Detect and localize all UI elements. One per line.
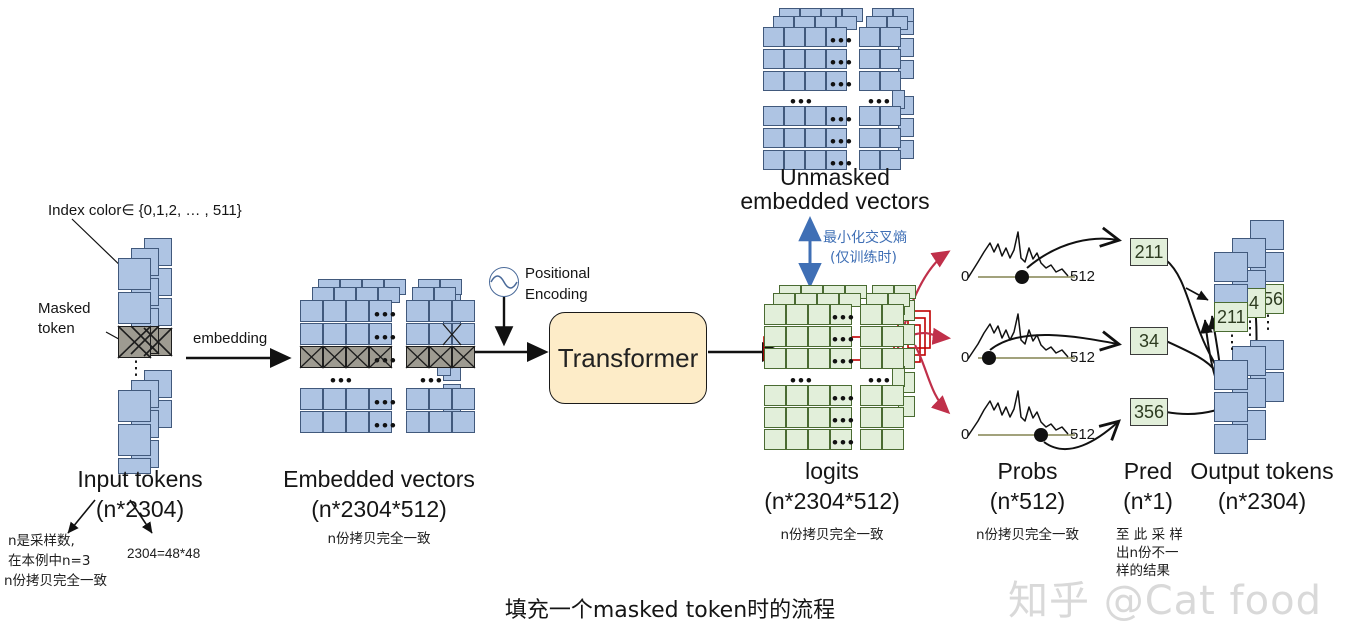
row-dots: ••• (830, 111, 854, 128)
probs-note-1: n份拷贝完全一致 (955, 528, 1100, 544)
grid-cell (786, 429, 808, 450)
logits-note-1: n份拷贝完全一致 (744, 528, 920, 544)
row-dots: ••• (830, 32, 854, 49)
grid-cell (786, 304, 808, 325)
prob-axis-min-1: 0 (961, 268, 969, 286)
grid-cell (784, 128, 805, 148)
grid-cell (764, 348, 786, 369)
prob-axis-max-3: 512 (1070, 426, 1095, 444)
token-cell (1214, 392, 1248, 422)
grid-cell (784, 27, 805, 47)
diagram-canvas: ⋮ Index color∈ {0,1,2, … , 511} Masked t… (0, 0, 1346, 642)
grid-cell (860, 407, 882, 428)
grid-cell (784, 71, 805, 91)
grid-cell (764, 407, 786, 428)
pred-value: 34 (1139, 331, 1159, 352)
grid-cell (808, 348, 830, 369)
logits-title: logits (744, 458, 920, 485)
grid-cell (764, 429, 786, 450)
grid-cell (808, 385, 830, 406)
grid-cell (860, 348, 882, 369)
pred-box-3: 356 (1130, 398, 1168, 426)
cross-entropy-note-line2: (仅训练时) (830, 250, 897, 268)
grid-back-sliver (892, 366, 905, 387)
grid-cell (764, 326, 786, 347)
grid-cell (763, 71, 784, 91)
logits-shape: (n*2304*512) (744, 488, 920, 515)
positional-encoding-icon (489, 267, 519, 297)
grid-cell (859, 106, 880, 126)
grid-cell (859, 128, 880, 148)
grid-cell (860, 429, 882, 450)
grid-cell (805, 106, 826, 126)
prob-axis-max-2: 512 (1070, 349, 1095, 367)
grid-cell (882, 429, 904, 450)
output-tokens-shape: (n*2304) (1178, 488, 1346, 515)
grid-cell (784, 49, 805, 69)
grid-cell (763, 27, 784, 47)
cross-entropy-note-line1: 最小化交叉熵 (823, 230, 907, 248)
output-pred-cell: 211 (1214, 302, 1248, 332)
positional-encoding-label-1: Positional (525, 265, 590, 283)
pred-note-1: 至 此 采 样 (1116, 528, 1183, 544)
grid-cell (786, 385, 808, 406)
grid-cell (882, 304, 904, 325)
output-pred-value: 211 (1217, 307, 1246, 328)
pred-value: 211 (1135, 242, 1164, 263)
grid-cell (808, 429, 830, 450)
row-dots: ••• (832, 309, 856, 326)
grid-cell (859, 27, 880, 47)
row-dots: ••• (832, 434, 856, 451)
pred-title: Pred (1108, 458, 1188, 485)
transformer-label: Transformer (558, 343, 699, 374)
grid-cell (859, 71, 880, 91)
grid-cell (805, 27, 826, 47)
output-tokens-title: Output tokens (1178, 458, 1346, 485)
grid-cell (882, 326, 904, 347)
pred-note-2: 出n份不一 (1116, 546, 1179, 562)
grid-cell (808, 304, 830, 325)
token-cell (1214, 360, 1248, 390)
grid-cell (859, 49, 880, 69)
grid-cell (763, 49, 784, 69)
grid-cell (880, 128, 901, 148)
pred-value: 356 (1134, 402, 1164, 423)
grid-cell (880, 49, 901, 69)
probs-title: Probs (955, 458, 1100, 485)
grid-cell (880, 106, 901, 126)
prob-axis-min-3: 0 (961, 426, 969, 444)
embedded-vectors-shape: (n*2304*512) (265, 496, 493, 523)
prob-axis-max-1: 512 (1070, 268, 1095, 286)
row-dots: ••• (832, 412, 856, 429)
grid-cell (763, 128, 784, 148)
grid-cell (805, 49, 826, 69)
grid-cell (880, 71, 901, 91)
row-dots: ••• (832, 353, 856, 370)
grid-cell (763, 106, 784, 126)
grid-cell (786, 407, 808, 428)
grid-cell (805, 128, 826, 148)
embedded-vectors-title: Embedded vectors (265, 466, 493, 493)
grid-cell (764, 304, 786, 325)
row-dots: ••• (832, 331, 856, 348)
grid-cell (860, 304, 882, 325)
grid-cell (784, 106, 805, 126)
grid-cell (860, 385, 882, 406)
pred-box-2: 34 (1130, 327, 1168, 355)
grid-cell (808, 326, 830, 347)
row-dots: ••• (832, 390, 856, 407)
grid-cell (882, 407, 904, 428)
grid-cell (764, 385, 786, 406)
embedded-note-1: n份拷贝完全一致 (265, 532, 493, 548)
output-vertical-dots: ⋮ (1222, 336, 1242, 349)
grid-cell (786, 326, 808, 347)
prob-axis-min-2: 0 (961, 349, 969, 367)
grid-cell (808, 407, 830, 428)
probs-shape: (n*512) (955, 488, 1100, 515)
grid-cell (805, 71, 826, 91)
grid-cell (860, 326, 882, 347)
positional-encoding-label-2: Encoding (525, 286, 588, 304)
token-cell (1214, 252, 1248, 282)
unmasked-title-line2: embedded vectors (695, 188, 975, 215)
row-dots: ••• (830, 76, 854, 93)
token-cell (1214, 424, 1248, 454)
diagram-caption: 填充一个masked token时的流程 (400, 598, 940, 624)
row-dots: ••• (830, 54, 854, 71)
grid-cell (880, 27, 901, 47)
grid-cell (786, 348, 808, 369)
grid-cell (882, 348, 904, 369)
row-dots: ••• (830, 133, 854, 150)
transformer-block[interactable]: Transformer (549, 312, 707, 404)
grid-cell (882, 385, 904, 406)
pred-shape: (n*1) (1108, 488, 1188, 515)
pred-box-1: 211 (1130, 238, 1168, 266)
watermark: 知乎 @Cat food (1008, 568, 1322, 626)
